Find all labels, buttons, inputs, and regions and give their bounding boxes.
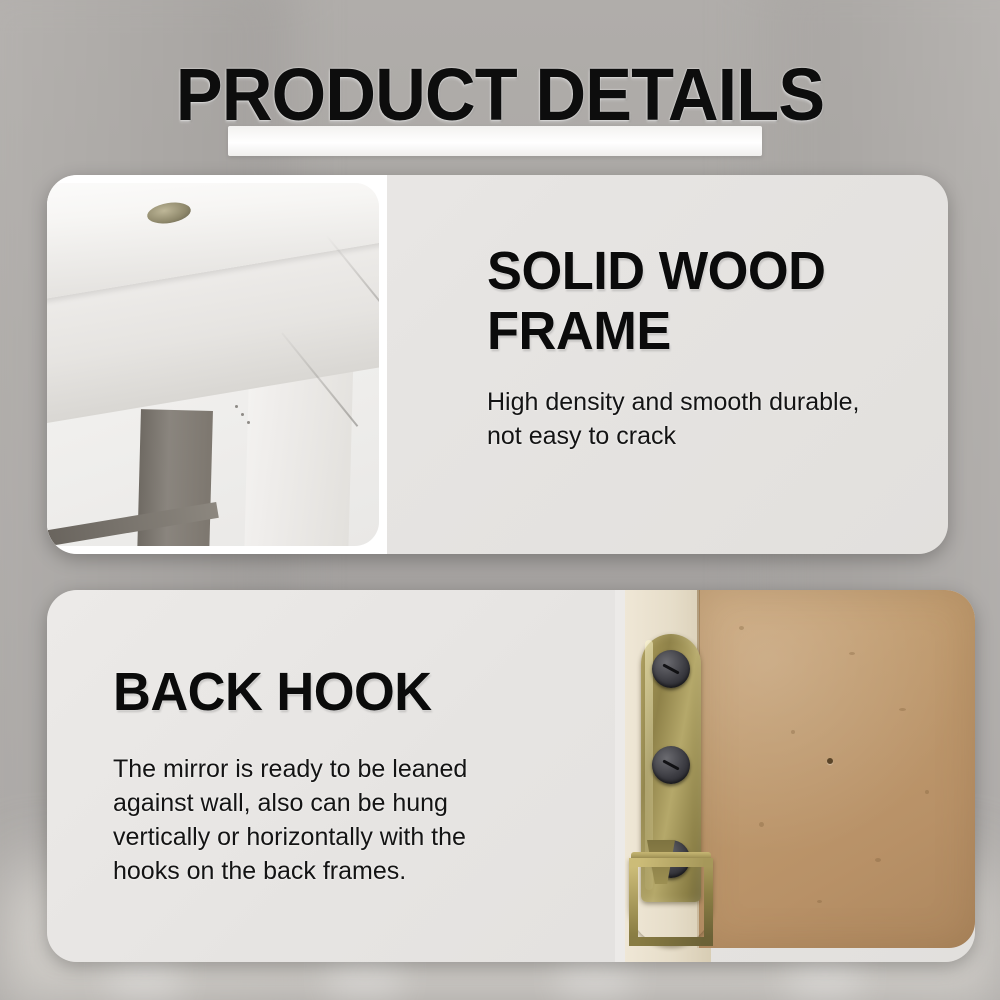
back-hook-text-block: BACK HOOK The mirror is ready to be lean… bbox=[113, 662, 623, 888]
wood-frame-photo-inner bbox=[47, 183, 379, 546]
mdf-backing-board bbox=[699, 590, 975, 948]
hanger-screw bbox=[652, 746, 690, 784]
mdf-pin-hole bbox=[827, 758, 833, 764]
hanger-screw bbox=[652, 650, 690, 688]
wood-frame-corner-photo bbox=[47, 175, 387, 554]
card-body-back-hook: The mirror is ready to be leaned against… bbox=[113, 752, 623, 888]
product-details-poster: PRODUCT DETAILS SOLID WOOD FRAME High d bbox=[0, 0, 1000, 1000]
frame-surface-notch bbox=[235, 405, 238, 408]
card-heading-solid-wood-frame: SOLID WOOD FRAME bbox=[487, 241, 914, 361]
card-body-solid-wood-frame: High density and smooth durable, not eas… bbox=[487, 385, 927, 453]
page-title: PRODUCT DETAILS bbox=[25, 40, 975, 150]
frame-surface-notch bbox=[241, 413, 244, 416]
card-solid-wood-frame: SOLID WOOD FRAME High density and smooth… bbox=[47, 175, 948, 554]
back-hook-photo bbox=[615, 590, 975, 962]
d-ring-hook bbox=[629, 858, 713, 946]
solid-wood-frame-text-block: SOLID WOOD FRAME High density and smooth… bbox=[487, 241, 927, 453]
card-back-hook: BACK HOOK The mirror is ready to be lean… bbox=[47, 590, 975, 962]
title-area: PRODUCT DETAILS bbox=[0, 40, 1000, 150]
frame-surface-notch bbox=[247, 421, 250, 424]
card-heading-back-hook: BACK HOOK bbox=[113, 662, 608, 722]
